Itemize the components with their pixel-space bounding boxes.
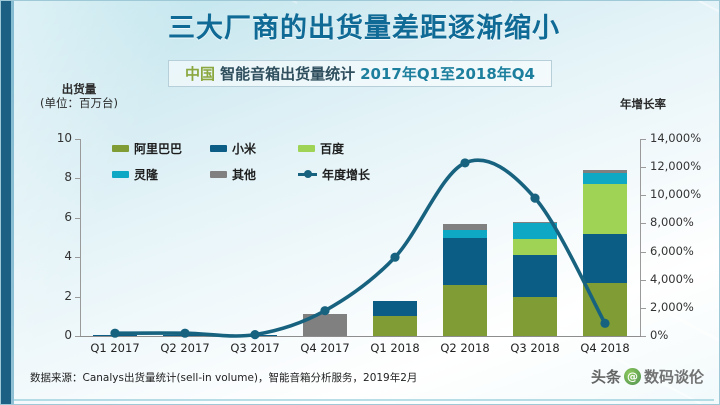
legend-line-icon <box>298 170 317 179</box>
y2-tick <box>641 167 646 168</box>
legend-swatch-icon <box>112 171 129 178</box>
legend-swatch-icon <box>210 171 227 178</box>
bar-column <box>373 301 417 336</box>
x-tick-label: Q2 2017 <box>150 341 220 355</box>
slide-bottom-rule <box>14 399 714 401</box>
y2-tick-label: 6,000% <box>650 244 720 258</box>
y2-tick <box>641 223 646 224</box>
y2-tick <box>641 336 646 337</box>
y2-tick <box>641 308 646 309</box>
legend-item[interactable]: 百度 <box>298 140 344 157</box>
x-tick-label: Q4 2017 <box>290 341 360 355</box>
x-tick-label: Q4 2018 <box>570 341 640 355</box>
watermark-prefix: 头条 <box>591 366 621 387</box>
chart-legend: 阿里巴巴小米百度灵隆其他年度增长 <box>112 140 397 192</box>
legend-item[interactable]: 阿里巴巴 <box>112 140 182 157</box>
bar-segment-小米 <box>513 255 557 296</box>
subtitle-range: 2017年Q1至2018年Q4 <box>360 63 535 84</box>
x-tick-label: Q1 2017 <box>80 341 150 355</box>
bar-segment-阿里巴巴 <box>373 316 417 336</box>
legend-label: 年度增长 <box>322 166 370 183</box>
bar-segment-灵隆 <box>443 230 487 238</box>
bar-column <box>93 335 137 336</box>
bar-segment-小米 <box>163 335 207 336</box>
watermark: 头条 @ 数码谈伦 <box>591 366 704 387</box>
bar-segment-小米 <box>443 238 487 285</box>
legend-label: 阿里巴巴 <box>134 140 182 157</box>
bar-segment-百度 <box>513 239 557 256</box>
bar-segment-其他 <box>443 224 487 230</box>
legend-item[interactable]: 小米 <box>210 140 256 157</box>
y-tick-label: 0 <box>46 328 72 342</box>
y2-tick-label: 14,000% <box>650 131 720 145</box>
legend-label: 其他 <box>232 166 256 183</box>
bar-column <box>163 335 207 336</box>
page-title: 三大厂商的出货量差距逐渐缩小 <box>14 12 714 46</box>
bar-segment-小米 <box>233 335 277 336</box>
bar-segment-小米 <box>583 234 627 283</box>
y2-tick-label: 4,000% <box>650 272 720 286</box>
bar-segment-阿里巴巴 <box>513 297 557 336</box>
chart-slide: 三大厂商的出货量差距逐渐缩小 中国 智能音箱出货量统计 2017年Q1至2018… <box>0 0 720 405</box>
x-tick-label: Q3 2017 <box>220 341 290 355</box>
decor-streak <box>300 0 513 3</box>
x-tick-label: Q3 2018 <box>500 341 570 355</box>
legend-label: 灵隆 <box>134 166 158 183</box>
legend-swatch-icon <box>210 145 227 152</box>
bar-segment-其他 <box>513 222 557 223</box>
y2-tick <box>641 195 646 196</box>
y-tick-label: 8 <box>46 170 72 184</box>
y2-tick <box>641 280 646 281</box>
legend-swatch-icon <box>112 145 129 152</box>
bar-segment-小米 <box>373 301 417 317</box>
left-accent-band <box>0 0 11 405</box>
subtitle-box: 中国 智能音箱出货量统计 2017年Q1至2018年Q4 <box>168 60 552 87</box>
y2-tick-label: 2,000% <box>650 300 720 314</box>
decor-streak <box>120 0 298 4</box>
legend-item[interactable]: 灵隆 <box>112 166 158 183</box>
y2-tick-label: 8,000% <box>650 215 720 229</box>
bar-segment-小米 <box>93 335 137 336</box>
y2-tick <box>641 139 646 140</box>
bar-segment-灵隆 <box>583 173 627 185</box>
source-note: 数据来源：Canalys出货量统计(sell-in volume)，智能音箱分析… <box>30 370 417 385</box>
y-axis-title-unit: (单位：百万台) <box>20 96 138 110</box>
subtitle-country: 中国 <box>185 63 215 84</box>
bar-segment-阿里巴巴 <box>443 285 487 336</box>
y-tick-label: 6 <box>46 210 72 224</box>
subtitle-main: 智能音箱出货量统计 <box>220 63 355 84</box>
legend-swatch-icon <box>298 145 315 152</box>
bar-segment-灵隆 <box>513 223 557 239</box>
bar-column <box>233 335 277 336</box>
x-tick-label: Q1 2018 <box>360 341 430 355</box>
bar-segment-阿里巴巴 <box>583 283 627 336</box>
x-axis-line <box>80 336 641 337</box>
bar-column <box>513 222 557 336</box>
y-axis-title-main: 出货量 <box>20 82 138 96</box>
y-axis-title: 出货量 (单位：百万台) <box>20 82 138 110</box>
left-accent-band-inner <box>11 0 14 405</box>
legend-label: 小米 <box>232 140 256 157</box>
y2-tick <box>641 252 646 253</box>
bar-segment-其他 <box>583 170 627 173</box>
y-tick-label: 2 <box>46 289 72 303</box>
y2-tick-label: 10,000% <box>650 187 720 201</box>
legend-item[interactable]: 其他 <box>210 166 256 183</box>
bar-segment-百度 <box>583 184 627 233</box>
y2-tick-label: 12,000% <box>650 159 720 173</box>
bar-column <box>443 224 487 336</box>
watermark-name: 数码谈伦 <box>644 366 704 387</box>
legend-label: 百度 <box>320 140 344 157</box>
y-tick-label: 10 <box>46 131 72 145</box>
bar-segment-其他 <box>303 314 347 336</box>
bar-column <box>303 314 347 336</box>
bar-column <box>583 170 627 336</box>
x-tick-label: Q2 2018 <box>430 341 500 355</box>
watermark-badge-icon: @ <box>624 368 641 385</box>
legend-item[interactable]: 年度增长 <box>298 166 370 183</box>
y2-axis-title: 年增长率 <box>620 96 716 112</box>
y-tick-label: 4 <box>46 249 72 263</box>
y-tick <box>75 336 80 337</box>
y2-tick-label: 0% <box>650 328 720 342</box>
